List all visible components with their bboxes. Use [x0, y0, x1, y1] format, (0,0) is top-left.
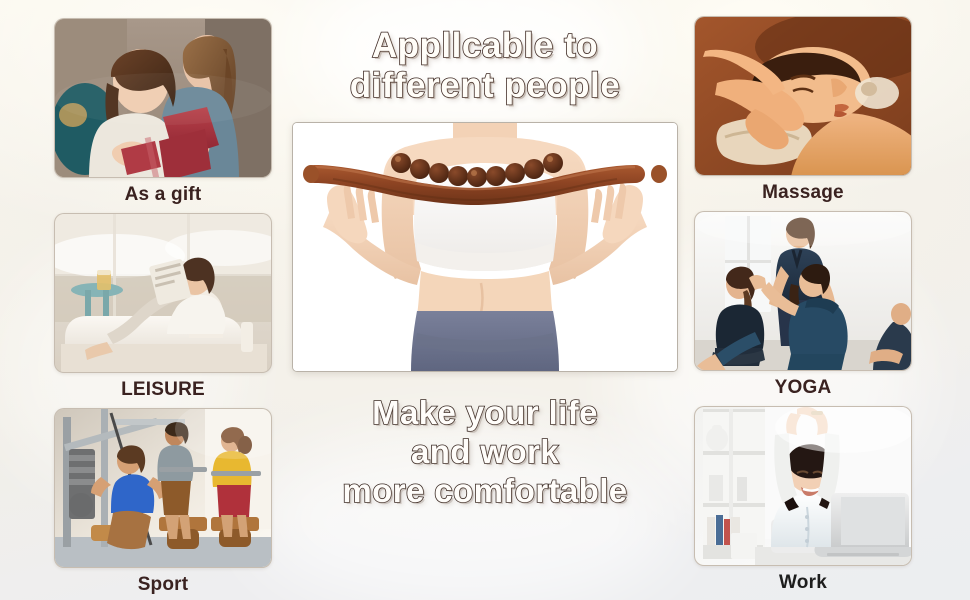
- hero-product-image: [292, 122, 678, 372]
- use-case-leisure: LEISURE: [48, 213, 278, 408]
- use-case-massage: Massage: [688, 16, 918, 211]
- use-case-yoga: YOGA: [688, 211, 918, 406]
- subline-line-2: and work: [342, 433, 627, 472]
- subline: Make your life and work more comfortable: [342, 394, 627, 511]
- gift-photo: [55, 19, 271, 177]
- sport-thumbnail: [54, 408, 272, 568]
- sport-photo: [55, 409, 271, 567]
- gift-thumbnail: [54, 18, 272, 178]
- headline: Appllcable to different people: [350, 26, 621, 106]
- subline-line-1: Make your life: [342, 394, 627, 433]
- yoga-photo: [695, 212, 911, 370]
- headline-line-2: different people: [350, 66, 621, 106]
- center-column: Appllcable to different people: [285, 0, 685, 600]
- left-use-case-column: As a gift: [48, 0, 278, 600]
- yoga-caption: YOGA: [775, 378, 832, 397]
- massage-photo: [695, 17, 911, 175]
- leisure-thumbnail: [54, 213, 272, 373]
- right-use-case-column: Massage: [688, 0, 918, 600]
- massage-caption: Massage: [762, 183, 844, 202]
- use-case-gift: As a gift: [48, 18, 278, 213]
- work-photo: [695, 407, 911, 565]
- work-thumbnail: [694, 406, 912, 566]
- promo-poster: As a gift: [0, 0, 970, 600]
- leisure-photo: [55, 214, 271, 372]
- yoga-thumbnail: [694, 211, 912, 371]
- hero-photo: [293, 123, 677, 371]
- sport-caption: Sport: [138, 575, 189, 594]
- work-caption: Work: [779, 573, 827, 592]
- use-case-work: Work: [688, 406, 918, 600]
- leisure-caption: LEISURE: [121, 380, 205, 399]
- subline-line-3: more comfortable: [342, 472, 627, 511]
- use-case-sport: Sport: [48, 408, 278, 600]
- gift-caption: As a gift: [125, 185, 202, 204]
- headline-line-1: Appllcable to: [350, 26, 621, 66]
- massage-thumbnail: [694, 16, 912, 176]
